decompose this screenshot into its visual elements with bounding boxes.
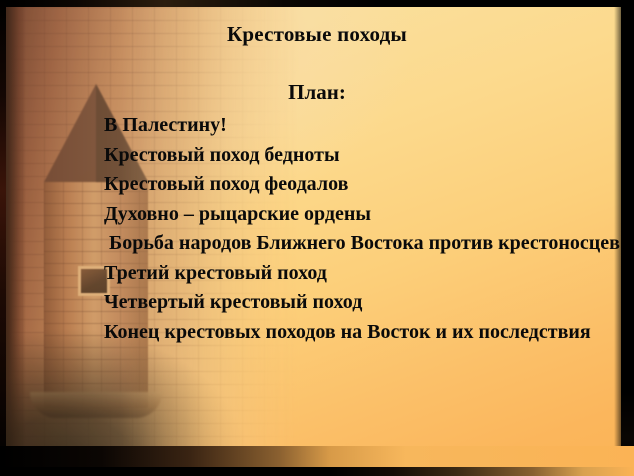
slide-frame-right-soft	[614, 0, 621, 476]
list-item: Крестовый поход бедноты	[104, 141, 620, 171]
list-item: Борьба народов Ближнего Востока против к…	[104, 229, 620, 259]
slide-frame-right	[621, 0, 634, 476]
list-item: Духовно – рыцарские ордены	[104, 200, 620, 230]
presentation-slide: Крестовые походы План: В Палестину! Крес…	[0, 0, 634, 476]
list-item: Третий крестовый поход	[104, 259, 620, 289]
list-item: Четвертый крестовый поход	[104, 288, 620, 318]
slide-frame-bottom-line	[0, 467, 634, 476]
list-item: Конец крестовых походов на Восток и их п…	[104, 318, 620, 348]
list-item: В Палестину!	[104, 111, 620, 141]
slide-frame-top	[0, 0, 634, 7]
list-item: Крестовый поход феодалов	[104, 170, 620, 200]
slide-content: Крестовые походы План: В Палестину! Крес…	[0, 0, 634, 476]
plan-list: В Палестину! Крестовый поход бедноты Кре…	[104, 111, 620, 347]
slide-title: Крестовые походы	[0, 22, 634, 47]
plan-heading: План:	[0, 80, 634, 105]
slide-frame-left	[0, 0, 6, 476]
